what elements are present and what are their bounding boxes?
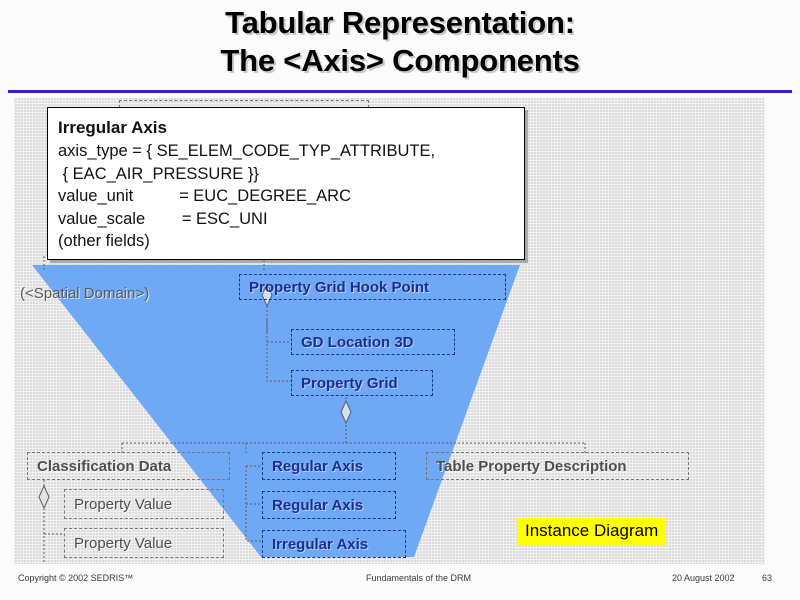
instance-diagram-label: Instance Diagram (517, 518, 666, 545)
callout-line-3: value_unit = EUC_DEGREE_ARC (58, 185, 514, 208)
callout-title: Irregular Axis (58, 116, 514, 140)
box-irregular-axis[interactable]: Irregular Axis (262, 530, 406, 558)
title-divider (8, 90, 792, 93)
box-property-grid[interactable]: Property Grid (291, 370, 433, 396)
diagram-panel: (<Spatial Domain>) Property Grid Hook Po… (14, 98, 765, 564)
box-regular-axis-2[interactable]: Regular Axis (262, 491, 396, 519)
callout-line-5: (other fields) (58, 230, 514, 253)
title-line-2: The <Axis> Components (0, 42, 800, 80)
slide: Tabular Representation: The <Axis> Compo… (0, 0, 800, 600)
footer-date: 20 August 2002 (672, 573, 735, 583)
callout-line-4: value_scale = ESC_UNI (58, 208, 514, 231)
spatial-domain-label: (<Spatial Domain>) (20, 285, 149, 302)
box-property-grid-hook-point[interactable]: Property Grid Hook Point (239, 274, 506, 300)
callout-line-1: axis_type = { SE_ELEM_CODE_TYP_ATTRIBUTE… (58, 140, 514, 163)
footer-copyright: Copyright © 2002 SEDRIS™ (18, 573, 133, 583)
box-regular-axis-1[interactable]: Regular Axis (262, 452, 396, 480)
irregular-axis-callout: Irregular Axis axis_type = { SE_ELEM_COD… (47, 107, 525, 260)
footer-page-number: 63 (762, 573, 772, 583)
box-property-value-1[interactable]: Property Value (64, 489, 224, 519)
box-table-property-description[interactable]: Table Property Description (426, 452, 689, 480)
box-property-value-2[interactable]: Property Value (64, 528, 224, 558)
box-classification-data[interactable]: Classification Data (27, 452, 230, 480)
title-line-1: Tabular Representation: (0, 4, 800, 42)
page-title: Tabular Representation: The <Axis> Compo… (0, 4, 800, 80)
box-gd-location-3d[interactable]: GD Location 3D (291, 329, 455, 355)
footer-center-text: Fundamentals of the DRM (366, 573, 471, 583)
callout-line-2: { EAC_AIR_PRESSURE }} (58, 163, 514, 186)
